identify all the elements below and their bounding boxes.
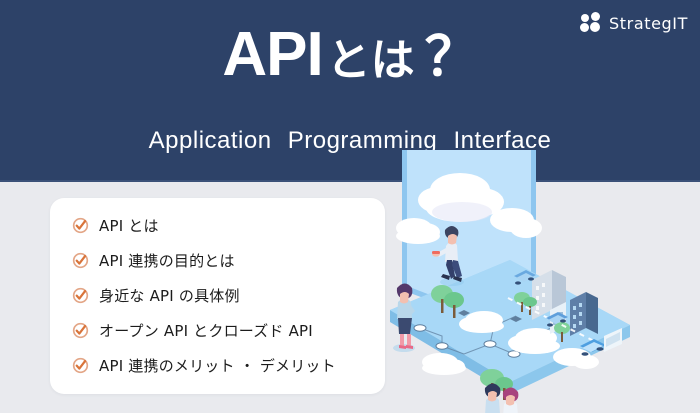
topics-card: API とは API 連携の目的とは 身近な: [50, 198, 385, 394]
list-item-label: オープン API とクローズド API: [99, 320, 313, 341]
check-circle-icon: [72, 287, 89, 304]
check-circle-icon: [72, 357, 89, 374]
list-item[interactable]: 身近な API の具体例: [72, 278, 375, 313]
page-title: APIとは？: [0, 24, 700, 86]
list-item-label: API 連携のメリット ・ デメリット: [99, 355, 336, 376]
check-circle-icon: [72, 252, 89, 269]
page-title-main: API: [222, 20, 322, 89]
list-item-label: 身近な API の具体例: [99, 285, 240, 306]
list-item[interactable]: API 連携のメリット ・ デメリット: [72, 348, 375, 383]
list-item-label: API とは: [99, 215, 159, 236]
list-item[interactable]: API とは: [72, 208, 375, 243]
topics-list: API とは API 連携の目的とは 身近な: [72, 208, 375, 383]
check-circle-icon: [72, 322, 89, 339]
check-circle-icon: [72, 217, 89, 234]
list-item[interactable]: オープン API とクローズド API: [72, 313, 375, 348]
isometric-cloud-city-illustration: [390, 150, 700, 413]
list-item[interactable]: API 連携の目的とは: [72, 243, 375, 278]
page-title-question-mark: ？: [415, 27, 478, 87]
list-item-label: API 連携の目的とは: [99, 250, 235, 271]
page-root: StrategIT APIとは？ Application Programming…: [0, 0, 700, 413]
page-title-jp: とは: [323, 36, 415, 85]
